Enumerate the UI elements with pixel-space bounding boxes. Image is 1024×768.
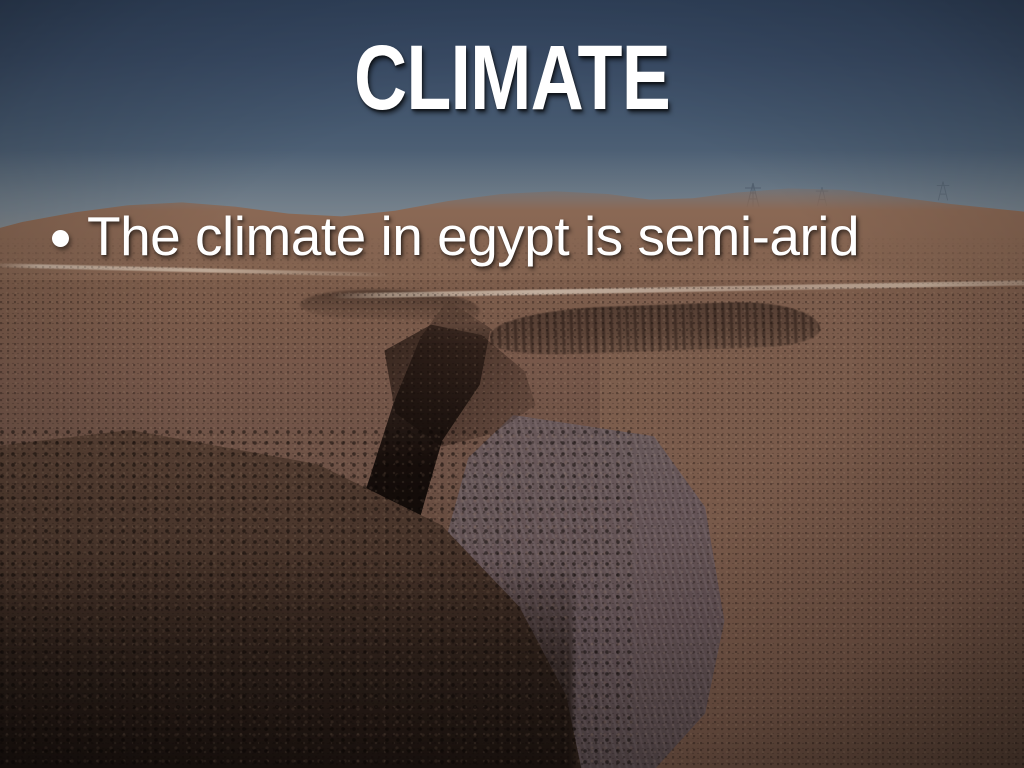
bullet-point-icon [52, 230, 69, 247]
bullet-item-text: The climate in egypt is semi-arid [87, 203, 859, 269]
slide-title: CLIMATE [102, 36, 921, 120]
bullet-list-item: The climate in egypt is semi-arid [52, 203, 994, 269]
slide-content: CLIMATE The climate in egypt is semi-ari… [0, 0, 1024, 768]
presentation-slide: CLIMATE The climate in egypt is semi-ari… [0, 0, 1024, 768]
